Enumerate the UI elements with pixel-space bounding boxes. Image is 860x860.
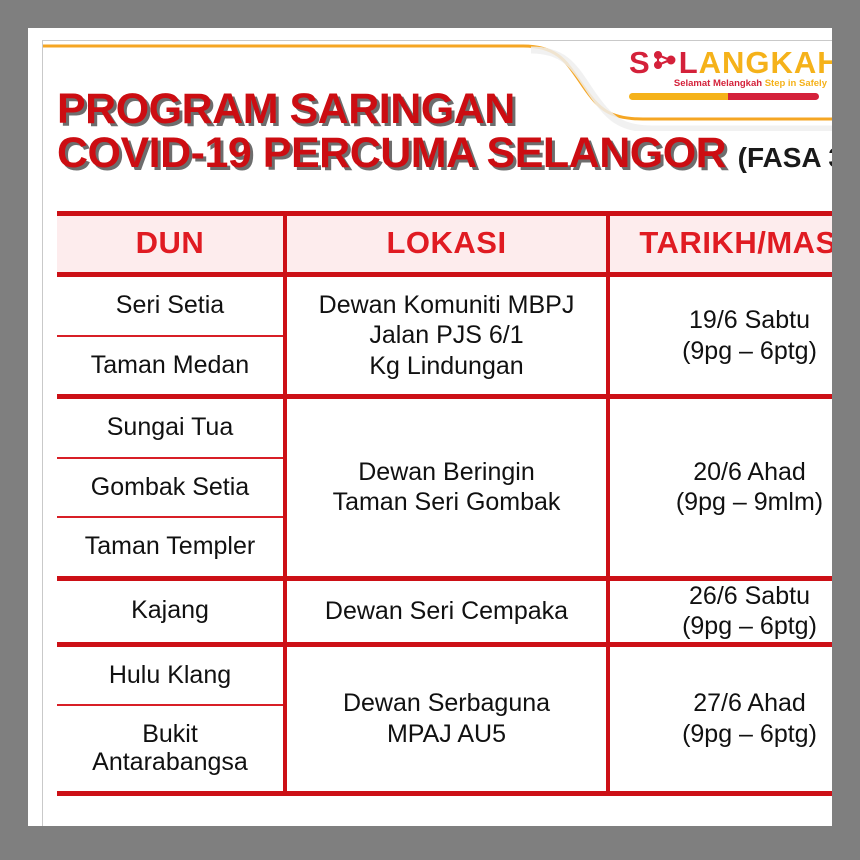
cell-dun: Seri SetiaTaman Medan xyxy=(57,275,285,397)
cell-lokasi: Dewan SerbagunaMPAJ AU5 xyxy=(285,644,608,794)
tarikh-line: 27/6 Ahad xyxy=(610,688,832,719)
lokasi-line: Dewan Seri Cempaka xyxy=(287,596,606,627)
cell-lokasi: Dewan Komuniti MBPJJalan PJS 6/1Kg Lindu… xyxy=(285,275,608,397)
dun-entry: Bukit Antarabangsa xyxy=(57,706,283,791)
page-title: PROGRAM SARINGAN COVID-19 PERCUMA SELANG… xyxy=(57,88,832,176)
column-header-tarikh-masa: TARIKH/MASA xyxy=(608,214,832,275)
dun-entry: Taman Medan xyxy=(57,337,283,395)
logo-text-angkah: ANGKAH xyxy=(699,47,832,78)
table-header-row: DUN LOKASI TARIKH/MASA xyxy=(57,214,832,275)
dun-entry: Sungai Tua xyxy=(57,399,283,459)
dun-entry: Hulu Klang xyxy=(57,647,283,707)
lokasi-line: Dewan Beringin xyxy=(287,457,606,488)
column-header-lokasi: LOKASI xyxy=(285,214,608,275)
cell-lokasi: Dewan Seri Cempaka xyxy=(285,578,608,644)
table-row: Seri SetiaTaman MedanDewan Komuniti MBPJ… xyxy=(57,275,832,397)
dun-entry: Gombak Setia xyxy=(57,459,283,519)
network-node-icon xyxy=(652,47,678,78)
cell-tarikh-masa: 19/6 Sabtu(9pg – 6ptg) xyxy=(608,275,832,397)
poster-inner-panel: S L ANGKAH xyxy=(42,40,832,826)
tarikh-line: 19/6 Sabtu xyxy=(610,305,832,336)
dun-entry: Taman Templer xyxy=(57,518,283,576)
dun-entry: Kajang xyxy=(57,582,283,640)
table-row: KajangDewan Seri Cempaka26/6 Sabtu(9pg –… xyxy=(57,578,832,644)
cell-tarikh-masa: 26/6 Sabtu(9pg – 6ptg) xyxy=(608,578,832,644)
tarikh-line: (9pg – 6ptg) xyxy=(610,611,832,642)
poster-card: S L ANGKAH xyxy=(28,28,832,826)
lokasi-line: MPAJ AU5 xyxy=(287,719,606,750)
lokasi-line: Dewan Serbaguna xyxy=(287,688,606,719)
cell-tarikh-masa: 27/6 Ahad(9pg – 6ptg) xyxy=(608,644,832,794)
title-phase-label: (FASA 3) xyxy=(738,142,832,173)
logo-letter-l: L xyxy=(679,47,699,78)
tarikh-line: 26/6 Sabtu xyxy=(610,581,832,612)
lokasi-line: Jalan PJS 6/1 xyxy=(287,320,606,351)
tarikh-line: 20/6 Ahad xyxy=(610,457,832,488)
table-row: Hulu KlangBukit AntarabangsaDewan Serbag… xyxy=(57,644,832,794)
logo-wordmark: S L ANGKAH xyxy=(629,47,829,78)
cell-tarikh-masa: 20/6 Ahad(9pg – 9mlm) xyxy=(608,397,832,579)
tarikh-line: (9pg – 9mlm) xyxy=(610,487,832,518)
title-line-2: COVID-19 PERCUMA SELANGOR (FASA 3) xyxy=(57,132,832,176)
tarikh-line: (9pg – 6ptg) xyxy=(610,719,832,750)
cell-dun: Hulu KlangBukit Antarabangsa xyxy=(57,644,285,794)
cell-dun: Sungai TuaGombak SetiaTaman Templer xyxy=(57,397,285,579)
table-body: Seri SetiaTaman MedanDewan Komuniti MBPJ… xyxy=(57,275,832,794)
table-row: Sungai TuaGombak SetiaTaman TemplerDewan… xyxy=(57,397,832,579)
lokasi-line: Taman Seri Gombak xyxy=(287,487,606,518)
screening-schedule-table: DUN LOKASI TARIKH/MASA Seri SetiaTaman M… xyxy=(57,211,832,796)
column-header-dun: DUN xyxy=(57,214,285,275)
title-line-1: PROGRAM SARINGAN xyxy=(57,88,832,132)
title-line-2-text: COVID-19 PERCUMA SELANGOR xyxy=(57,129,726,177)
dun-entry: Seri Setia xyxy=(57,277,283,337)
cell-lokasi: Dewan BeringinTaman Seri Gombak xyxy=(285,397,608,579)
cell-dun: Kajang xyxy=(57,578,285,644)
logo-letter-s: S xyxy=(629,47,651,78)
lokasi-line: Dewan Komuniti MBPJ xyxy=(287,290,606,321)
lokasi-line: Kg Lindungan xyxy=(287,351,606,382)
tarikh-line: (9pg – 6ptg) xyxy=(610,336,832,367)
